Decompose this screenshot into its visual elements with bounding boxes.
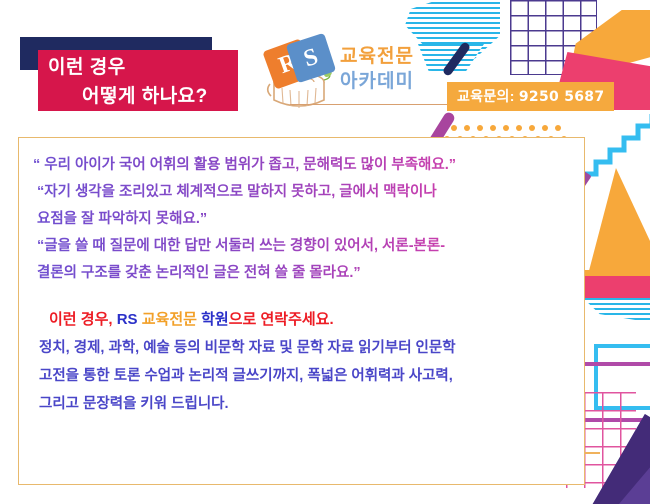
body-line: 고전을 통한 토론 수업과 논리적 글쓰기까지, 폭넓은 어휘력과 사고력, — [33, 362, 568, 390]
purple-frame-outline — [581, 362, 650, 422]
phone-badge-number: 9250 5687 — [519, 89, 605, 105]
cyan-stripe-fan — [583, 298, 650, 324]
content-card: “ 우리 아이가 국어 어휘의 활용 범위가 좁고, 문해력도 많이 부족해요.… — [18, 137, 585, 485]
purple-wedge-light — [586, 414, 650, 504]
headline-banner: 이런 경우 어떻게 하나요? — [38, 50, 238, 111]
quote-line: “ 우리 아이가 국어 어휘의 활용 범위가 좁고, 문해력도 많이 부족해요.… — [33, 152, 568, 179]
logo-text-line-1: 교육전문 — [340, 44, 460, 69]
phone-badge-label: 교육문의: — [457, 88, 515, 104]
poster-canvas: 이런 경우 어떻게 하나요? R S 교육전문 아카데미 교육문의: 9250 … — [0, 0, 650, 504]
phone-inquiry-badge[interactable]: 교육문의: 9250 5687 — [447, 82, 614, 111]
quote-line: 결론의 구조를 갖춘 논리적인 글은 전혀 쓸 줄 몰라요.” — [33, 260, 568, 287]
cta-part-3: 교육전문 — [142, 311, 201, 328]
quote-line: “자기 생각을 조리있고 체계적으로 말하지 못하고, 글에서 맥락이나 — [33, 179, 568, 206]
quote-line: 요점을 잘 파악하지 못해요.” — [33, 206, 568, 233]
orange-ribbon-shape — [568, 10, 650, 80]
cyan-frame-outline — [594, 344, 650, 410]
purple-grid-pattern — [510, 0, 597, 75]
cta-brand-rs: RS — [117, 311, 142, 328]
body-line: 그리고 문장력을 키워 드립니다. — [33, 390, 568, 418]
cta-part-1: 이런 경우, — [49, 311, 117, 328]
rs-logo: R S — [262, 38, 340, 114]
logo-wordmark: 교육전문 아카데미 — [340, 44, 460, 94]
section-spacer — [33, 287, 568, 306]
orange-triangle — [585, 168, 650, 286]
cta-part-5: 으로 연락주세요. — [229, 311, 334, 328]
call-to-action-line: 이런 경우, RS 교육전문 학원으로 연락주세요. — [33, 306, 568, 334]
purple-wedge-dark — [586, 414, 650, 504]
logo-text-line-2: 아카데미 — [340, 69, 460, 94]
quote-line: “글을 쓸 때 질문에 대한 답만 서둘러 쓰는 경향이 있어서, 서론-본론- — [33, 233, 568, 260]
orange-dot-row-1 — [451, 118, 568, 136]
cta-part-4: 학원 — [201, 311, 229, 328]
body-line: 정치, 경제, 과학, 예술 등의 비문학 자료 및 문학 자료 읽기부터 인문… — [33, 334, 568, 362]
headline-line-2: 어떻게 하나요? — [38, 82, 238, 111]
headline-line-1: 이런 경우 — [38, 50, 238, 82]
